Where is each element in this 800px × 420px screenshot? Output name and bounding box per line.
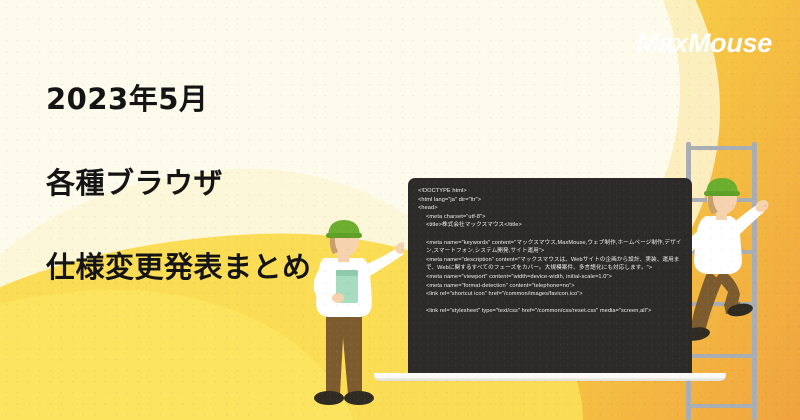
banner-stage: 2023年5月 各種ブラウザ 仕様変更発表まとめ MaxMouse — [0, 0, 800, 420]
brand-logo: MaxMouse — [636, 28, 772, 59]
html-source-code: <!DOCTYPE html><html lang="ja" dir="ltr"… — [418, 187, 688, 316]
title-line-3: 仕様変更発表まとめ — [46, 246, 312, 288]
code-line — [418, 299, 688, 308]
code-line: <meta name="description" content="マックスマウ… — [418, 256, 688, 273]
laptop-base-lip — [374, 374, 726, 378]
laptop-screen: <!DOCTYPE html><html lang="ja" dir="ltr"… — [408, 178, 692, 374]
code-line: <meta name="format-detection" content="t… — [418, 282, 688, 291]
title-line-2: 各種ブラウザ — [46, 162, 312, 204]
code-line: <!DOCTYPE html> — [418, 187, 688, 196]
title-line-1: 2023年5月 — [46, 78, 312, 120]
code-line: <meta name="viewport" content="width=dev… — [418, 273, 688, 282]
code-line: <html lang="ja" dir="ltr"> — [418, 196, 688, 205]
code-line: <link rel="stylesheet" type="text/css" h… — [418, 307, 688, 316]
laptop-illustration: <!DOCTYPE html><html lang="ja" dir="ltr"… — [400, 178, 700, 383]
ladder-rung — [686, 404, 757, 408]
code-line: <meta name="keywords" content="マックスマウス,M… — [418, 239, 688, 256]
worker-pointing-svg — [296, 218, 404, 420]
page-title: 2023年5月 各種ブラウザ 仕様変更発表まとめ — [46, 36, 312, 330]
code-line: <meta charset="utf-8"> — [418, 213, 688, 222]
worker-pointing-illustration — [296, 218, 404, 420]
code-line — [418, 230, 688, 239]
code-line: <title>株式会社マックスマウス</title> — [418, 221, 688, 230]
code-line: <head> — [418, 204, 688, 213]
code-line: <link rel="shortcut icon" href="/common/… — [418, 290, 688, 299]
ladder-rung — [686, 146, 757, 150]
